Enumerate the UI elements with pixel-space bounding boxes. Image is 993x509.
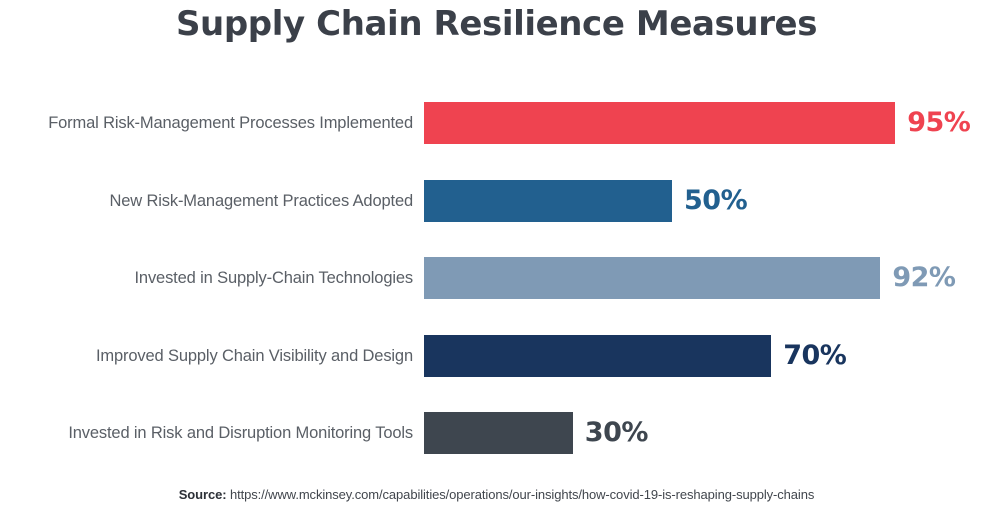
bar-row: Invested in Risk and Disruption Monitori… bbox=[0, 405, 993, 461]
chart-container: Supply Chain Resilience Measures Formal … bbox=[0, 0, 993, 509]
bar-value-label: 30% bbox=[573, 412, 648, 454]
bar-segment[interactable] bbox=[424, 412, 573, 454]
bar-track: 30% bbox=[424, 412, 993, 454]
bar-track: 50% bbox=[424, 180, 993, 222]
bar-row: Improved Supply Chain Visibility and Des… bbox=[0, 328, 993, 384]
source-label: Source: bbox=[179, 487, 227, 502]
bar-segment[interactable] bbox=[424, 257, 880, 299]
chart-title: Supply Chain Resilience Measures bbox=[0, 0, 993, 44]
bar-category-label: Invested in Risk and Disruption Monitori… bbox=[0, 423, 424, 443]
bar-category-label: Invested in Supply-Chain Technologies bbox=[0, 268, 424, 288]
bar-category-label: Formal Risk-Management Processes Impleme… bbox=[0, 113, 424, 133]
bar-track: 70% bbox=[424, 335, 993, 377]
bar-segment[interactable] bbox=[424, 102, 895, 144]
bar-value-label: 95% bbox=[895, 102, 970, 144]
bar-value-label: 70% bbox=[771, 335, 846, 377]
bar-row: Invested in Supply-Chain Technologies 92… bbox=[0, 250, 993, 306]
bar-value-label: 92% bbox=[880, 257, 955, 299]
source-url[interactable]: https://www.mckinsey.com/capabilities/op… bbox=[230, 487, 814, 502]
bar-track: 95% bbox=[424, 102, 993, 144]
bar-segment[interactable] bbox=[424, 180, 672, 222]
bar-segment[interactable] bbox=[424, 335, 771, 377]
bar-chart-plot-area: Formal Risk-Management Processes Impleme… bbox=[0, 92, 993, 477]
bar-row: Formal Risk-Management Processes Impleme… bbox=[0, 95, 993, 151]
source-caption: Source: https://www.mckinsey.com/capabil… bbox=[0, 487, 993, 503]
bar-category-label: New Risk-Management Practices Adopted bbox=[0, 191, 424, 211]
bar-row: New Risk-Management Practices Adopted 50… bbox=[0, 173, 993, 229]
bar-value-label: 50% bbox=[672, 180, 747, 222]
bar-category-label: Improved Supply Chain Visibility and Des… bbox=[0, 346, 424, 366]
bar-track: 92% bbox=[424, 257, 993, 299]
